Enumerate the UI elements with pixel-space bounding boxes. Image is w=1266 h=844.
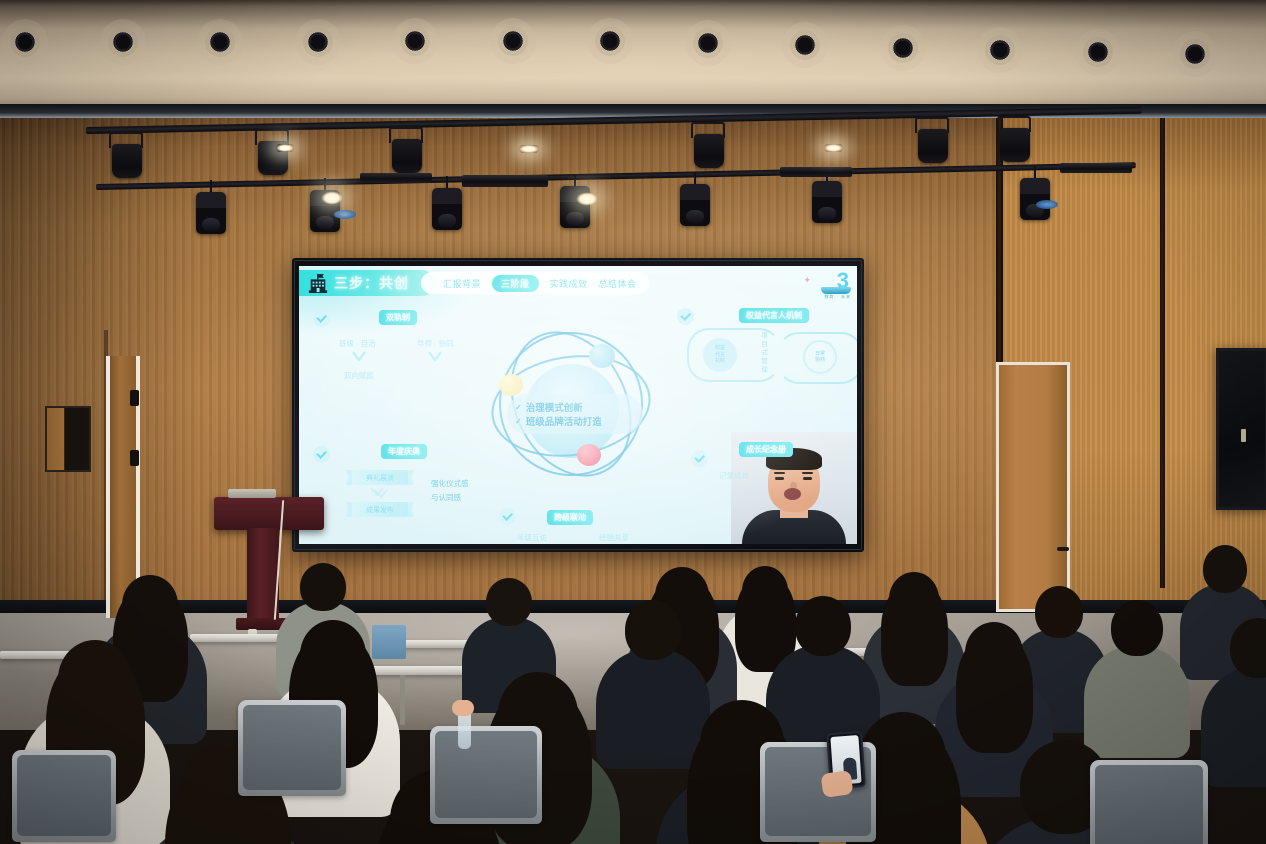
mini-circle-left: 权益代言机制: [703, 338, 737, 372]
audience-hand: [820, 770, 853, 798]
center-line-text: 治理模式创新: [526, 400, 583, 414]
led-bar-stage-light: [462, 175, 548, 187]
down-arrow-icon: [351, 350, 367, 364]
chair-backrest: [1095, 765, 1203, 844]
check-icon: [677, 308, 694, 325]
body-text-line-1: 与认同感: [431, 492, 461, 503]
logo-spark-icon: ✦: [803, 275, 811, 286]
lectern-top: [214, 497, 324, 530]
check-icon: [313, 446, 330, 463]
audience-head: [965, 622, 1023, 684]
chip-bottom-left: 年度庆典: [381, 444, 427, 459]
vertical-label: 项目式管理: [759, 332, 766, 384]
recessed-downlight: [977, 27, 1023, 73]
presentation-room-photo: 三步：共创 汇报背景 三阶段 实践成效 总结体会 ✦ 3 教育 · 未来: [0, 0, 1266, 844]
slide-title-pill: 三步：共创: [299, 270, 435, 296]
speaker-brow: [802, 472, 813, 475]
chip-bottom-right: 成长纪念册: [739, 442, 793, 457]
atom-node-blue: [589, 344, 615, 368]
atom-node-yellow: [499, 374, 523, 396]
audience-head: [1203, 545, 1247, 593]
ghost-text: 年级互访: [517, 532, 547, 543]
audience-chair[interactable]: [1090, 760, 1208, 844]
slide-nav: 汇报背景 三阶段 实践成效 总结体会: [421, 272, 649, 294]
ribbon-label-1: 成果发布: [351, 502, 409, 517]
check-icon: [313, 310, 330, 327]
ribbon-label-0: 典礼展演: [351, 470, 409, 485]
center-line-1: ✓ 班级品牌活动打造: [515, 414, 635, 428]
ceiling-spot-light: [519, 145, 539, 153]
check-icon: [691, 450, 708, 467]
chair-backrest: [243, 705, 341, 790]
logo-book-icon: [821, 287, 851, 294]
audience-head: [1230, 618, 1266, 678]
par-stage-light: [112, 144, 142, 178]
recessed-downlight: [587, 18, 633, 64]
slide-nav-item-3[interactable]: 总结体会: [599, 277, 637, 290]
recessed-downlight: [197, 19, 243, 65]
ceiling-spot-light: [276, 144, 294, 152]
recessed-downlight: [100, 19, 146, 65]
door-handle-icon[interactable]: [1057, 547, 1069, 551]
led-bar-stage-light: [360, 173, 432, 183]
par-stage-light: [694, 134, 724, 168]
audience-head: [122, 575, 178, 635]
audience-head: [300, 620, 366, 690]
par-stage-light: [392, 139, 422, 173]
moving-head-stage-light: [680, 184, 710, 226]
audience-chair[interactable]: [238, 700, 346, 796]
ghost-text: 双向赋能: [344, 370, 374, 381]
center-line-0: ✓ 治理模式创新: [515, 400, 635, 414]
presentation-slide: 三步：共创 汇报背景 三阶段 实践成效 总结体会 ✦ 3 教育 · 未来: [299, 266, 857, 544]
audience-head: [795, 596, 851, 656]
led-bar-stage-light: [780, 167, 852, 177]
moving-head-stage-light: [432, 188, 462, 230]
audience-chair[interactable]: [430, 726, 542, 824]
chip-top-right: 权益代言人机制: [739, 308, 809, 323]
slide-header: 三步：共创 汇报背景 三阶段 实践成效 总结体会 ✦ 3 教育 · 未来: [299, 270, 857, 296]
down-arrow-icon: [427, 350, 443, 364]
check-mark-icon: ✓: [515, 417, 522, 426]
wall-mounted-display[interactable]: [1216, 348, 1266, 510]
door-stop-icon: [130, 390, 139, 406]
moving-head-stage-light: [812, 181, 842, 223]
display-label-icon: [1241, 429, 1246, 442]
chip-top-left: 双轨制: [379, 310, 417, 325]
screen-surface: 三步：共创 汇报背景 三阶段 实践成效 总结体会 ✦ 3 教育 · 未来: [299, 266, 857, 544]
speaker-eye: [775, 477, 784, 480]
check-icon: [499, 508, 516, 525]
wall-panel-seam: [1160, 118, 1165, 588]
recessed-downlight: [1075, 29, 1121, 75]
check-mark-icon: ✓: [515, 403, 522, 412]
audience-chair[interactable]: [12, 750, 116, 842]
speaker-mouth: [784, 488, 801, 500]
ceiling-spot-light: [824, 144, 843, 152]
truss-spot-light: [576, 192, 598, 206]
ghost-text: 班级 · 自治: [339, 338, 376, 349]
audience-hand: [452, 700, 474, 716]
slide-nav-item-0[interactable]: 汇报背景: [443, 277, 481, 290]
recessed-downlight: [2, 19, 48, 65]
speaker-brow: [774, 472, 785, 475]
speaker-eye: [803, 477, 812, 480]
school-building-icon: [307, 273, 329, 293]
recessed-downlight: [1172, 31, 1218, 77]
wall-access-panel: [45, 406, 91, 472]
atom-node-pink: [577, 444, 601, 466]
laptop-on-lectern[interactable]: [228, 489, 276, 498]
video-speaker-figure: [742, 452, 846, 544]
projection-screen[interactable]: 三步：共创 汇报背景 三阶段 实践成效 总结体会 ✦ 3 教育 · 未来: [292, 258, 864, 552]
slide-nav-item-1[interactable]: 三阶段: [492, 275, 539, 292]
audience-head: [300, 563, 346, 611]
chip-bottom-center: 跨级联动: [547, 510, 593, 525]
recessed-downlight: [295, 19, 341, 65]
chair-backrest: [435, 731, 537, 818]
led-bar-stage-light: [1060, 163, 1132, 173]
slide-title: 三步：共创: [334, 273, 409, 293]
audience-head: [625, 600, 681, 660]
body-text-line-0: 强化仪式感: [431, 478, 469, 489]
audience-head: [486, 578, 532, 626]
audience-head: [1111, 600, 1163, 656]
brand-logo: ✦ 3 教育 · 未来: [787, 272, 851, 298]
par-stage-light: [1000, 128, 1030, 162]
ghost-text: 导师 · 协同: [417, 338, 454, 349]
atom-diagram: ✓ 治理模式创新 ✓ 班级品牌活动打造: [485, 326, 657, 484]
par-stage-light: [918, 129, 948, 163]
door-stop-icon: [130, 450, 139, 466]
slide-nav-item-2[interactable]: 实践成效: [550, 277, 588, 290]
logo-subtitle: 教育 · 未来: [824, 294, 851, 300]
ghost-text: 记录成长: [719, 470, 749, 481]
ghost-text: 经验共享: [599, 532, 629, 543]
center-line-text: 班级品牌活动打造: [526, 414, 602, 428]
moving-head-stage-light: [1020, 178, 1050, 220]
recessed-downlight: [685, 20, 731, 66]
moving-head-stage-light: [196, 192, 226, 234]
recessed-downlight: [490, 18, 536, 64]
truss-spot-light: [321, 191, 343, 205]
double-arrow-icon: [369, 486, 391, 500]
chair-backrest: [17, 755, 111, 836]
recessed-downlight: [880, 25, 926, 71]
blue-lens-light: [1036, 200, 1058, 209]
mini-circle-right: 日常协商: [803, 340, 837, 374]
blue-lens-light: [334, 210, 356, 219]
audience-head: [58, 640, 132, 718]
center-message-card: ✓ 治理模式创新 ✓ 班级品牌活动打造: [507, 394, 643, 434]
